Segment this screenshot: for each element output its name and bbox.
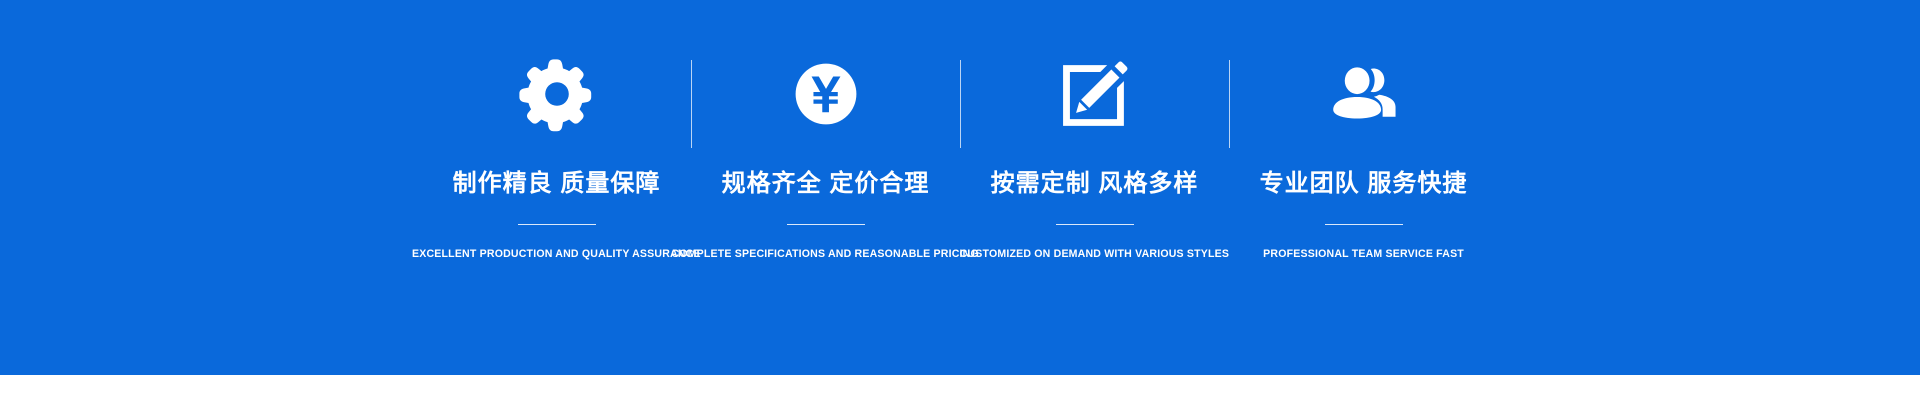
gear-icon [519, 56, 595, 132]
feature-banner: 制作精良 质量保障 EXCELLENT PRODUCTION AND QUALI… [0, 0, 1920, 375]
feature-subtitle: EXCELLENT PRODUCTION AND QUALITY ASSURAN… [412, 247, 701, 261]
feature-title: 制作精良 质量保障 [453, 170, 661, 199]
feature-subtitle: COMPLETE SPECIFICATIONS AND REASONABLE P… [672, 247, 979, 261]
yen-circle-icon [788, 56, 864, 132]
feature-subtitle: CUSTOMIZED ON DEMAND WITH VARIOUS STYLES [960, 247, 1230, 261]
title-divider [518, 224, 596, 225]
feature-columns: 制作精良 质量保障 EXCELLENT PRODUCTION AND QUALI… [423, 0, 1498, 261]
users-group-icon [1326, 56, 1402, 132]
title-divider [787, 224, 865, 225]
feature-subtitle: PROFESSIONAL TEAM SERVICE FAST [1263, 247, 1464, 261]
edit-pencil-square-icon [1057, 56, 1133, 132]
feature-title: 规格齐全 定价合理 [722, 170, 930, 199]
title-divider [1325, 224, 1403, 225]
feature-card-pricing[interactable]: 规格齐全 定价合理 COMPLETE SPECIFICATIONS AND RE… [692, 0, 960, 261]
feature-card-team[interactable]: 专业团队 服务快捷 PROFESSIONAL TEAM SERVICE FAST [1230, 0, 1498, 261]
feature-card-customization[interactable]: 按需定制 风格多样 CUSTOMIZED ON DEMAND WITH VARI… [961, 0, 1229, 261]
bottom-white-strip [0, 375, 1920, 401]
title-divider [1056, 224, 1134, 225]
feature-card-quality[interactable]: 制作精良 质量保障 EXCELLENT PRODUCTION AND QUALI… [423, 0, 691, 261]
feature-title: 按需定制 风格多样 [991, 170, 1199, 199]
feature-title: 专业团队 服务快捷 [1260, 170, 1468, 199]
